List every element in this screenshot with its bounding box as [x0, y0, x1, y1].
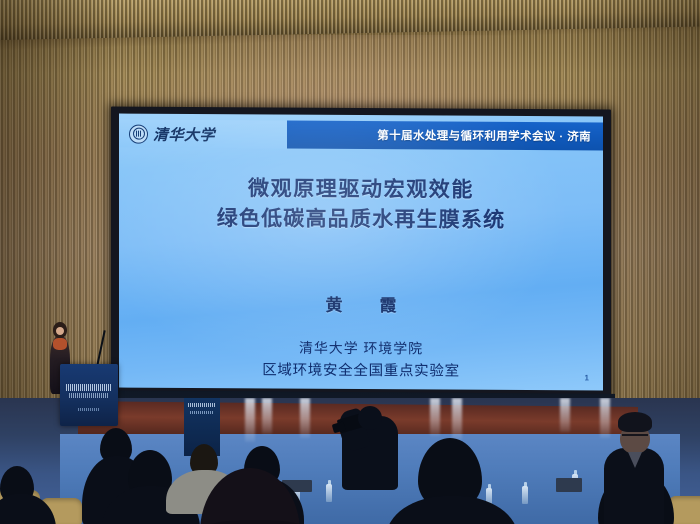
- water-bottle: [326, 484, 332, 502]
- speaker-name: 黄 霞: [119, 290, 603, 318]
- slide-title-block: 微观原理驱动宏观效能 绿色低碳高品质水再生膜系统: [119, 174, 603, 237]
- led-light-streak: [300, 398, 310, 438]
- standing-attendee-right: [604, 412, 664, 524]
- led-light-streak: [430, 398, 440, 436]
- conference-hall-photo: 清华大学 第十届水处理与循环利用学术会议 · 济南 微观原理驱动宏观效能 绿色低…: [0, 0, 700, 524]
- led-light-streak: [262, 398, 272, 434]
- conference-title-text: 第十届水处理与循环利用学术会议 · 济南: [377, 127, 591, 144]
- lectern-text-line: [66, 384, 112, 391]
- banner-text-line: [190, 411, 214, 414]
- title-line-2: 绿色低碳高品质水再生膜系统: [119, 203, 603, 236]
- led-light-streak: [452, 398, 462, 440]
- photographer-with-camera: [338, 392, 402, 488]
- presenter-scarf: [53, 338, 67, 350]
- presenter-face: [56, 327, 64, 335]
- affiliation-line-2: 区域环境安全全国重点实验室: [119, 358, 603, 384]
- laptop: [556, 478, 582, 492]
- projection-screen-frame: 清华大学 第十届水处理与循环利用学术会议 · 济南 微观原理驱动宏观效能 绿色低…: [111, 106, 611, 397]
- slide-page-number: 1: [585, 373, 589, 382]
- attendee-cap: [618, 412, 652, 432]
- university-name: 清华大学: [153, 123, 215, 144]
- title-line-1: 微观原理驱动宏观效能: [119, 174, 603, 207]
- slide-header: 清华大学 第十届水处理与循环利用学术会议 · 济南: [119, 120, 603, 151]
- led-light-streak: [245, 398, 255, 442]
- tsinghua-seal-icon: [129, 124, 148, 143]
- water-bottle: [522, 486, 528, 504]
- photographer-head: [358, 406, 382, 430]
- led-light-streak: [560, 398, 570, 432]
- lectern-text-line: [78, 408, 100, 411]
- conference-title-bar: 第十届水处理与循环利用学术会议 · 济南: [287, 121, 603, 151]
- glasses-icon: [622, 434, 648, 440]
- lectern: [60, 364, 118, 426]
- lectern-text-line: [69, 393, 109, 398]
- presentation-slide: 清华大学 第十届水处理与循环利用学术会议 · 济南 微观原理驱动宏观效能 绿色低…: [119, 114, 603, 391]
- affiliation-line-1: 清华大学 环境学院: [119, 336, 603, 362]
- banner-text-line: [188, 403, 216, 407]
- university-logo: 清华大学: [119, 120, 287, 149]
- speaker-affiliation: 清华大学 环境学院 区域环境安全全国重点实验室: [119, 336, 603, 385]
